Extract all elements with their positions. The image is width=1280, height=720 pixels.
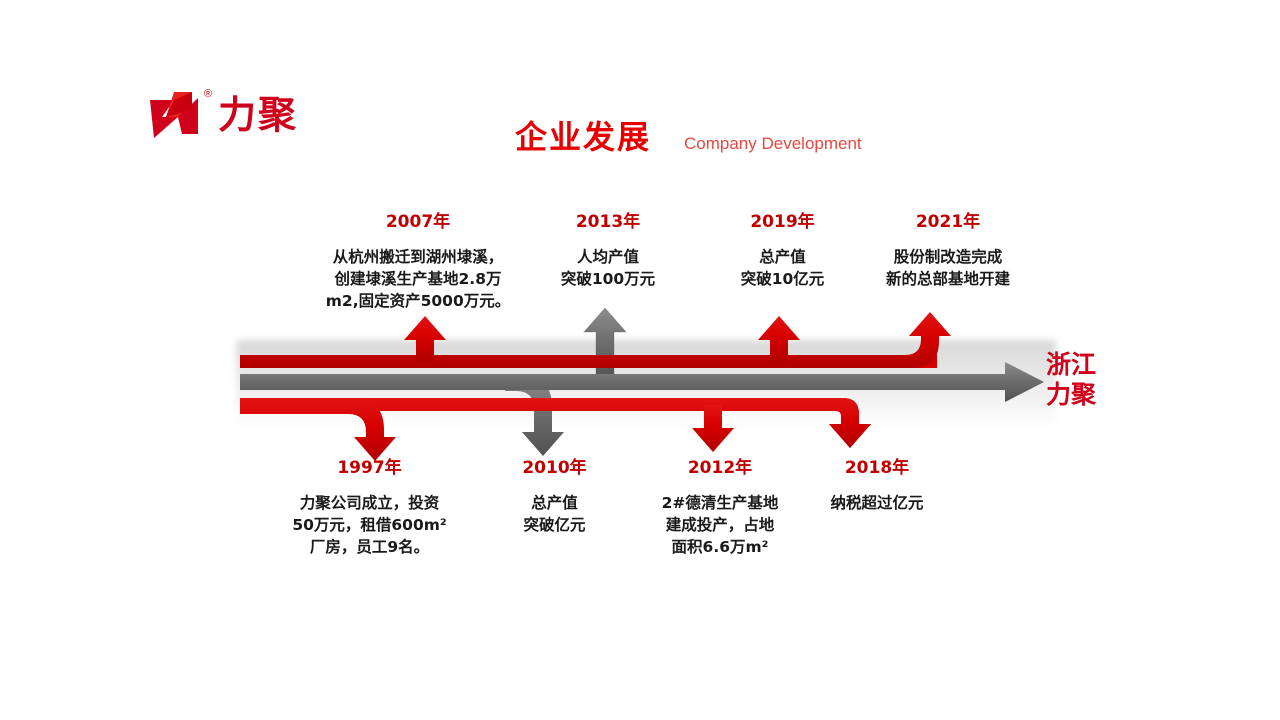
event-desc-line: 2#德清生产基地: [640, 492, 800, 514]
timeline-event-2013: 2013年 人均产值 突破100万元: [533, 207, 683, 290]
end-label-line1: 浙江: [1046, 350, 1096, 380]
event-description: 总产值 突破亿元: [487, 492, 622, 536]
event-year-label: 2007年: [298, 207, 538, 232]
timeline-event-2007: 2007年 从杭州搬迁到湖州埭溪， 创建埭溪生产基地2.8万 m2,固定资产50…: [298, 207, 538, 312]
event-desc-line: 面积6.6万m²: [640, 536, 800, 558]
event-year-label: 2013年: [533, 207, 683, 232]
event-year-label: 2021年: [858, 207, 1038, 232]
event-desc-line: 股份制改造完成: [858, 246, 1038, 268]
timeline-event-2021: 2021年 股份制改造完成 新的总部基地开建: [858, 207, 1038, 290]
event-year-label: 2012年: [640, 453, 800, 478]
event-desc-line: 突破100万元: [533, 268, 683, 290]
event-desc-line: 突破10亿元: [710, 268, 855, 290]
event-desc-line: 从杭州搬迁到湖州埭溪，: [298, 246, 538, 268]
event-desc-line: 总产值: [487, 492, 622, 514]
event-year-label: 2018年: [797, 453, 957, 478]
event-description: 总产值 突破10亿元: [710, 246, 855, 290]
event-year-label: 2019年: [710, 207, 855, 232]
event-desc-line: 厂房，员工9名。: [262, 536, 477, 558]
timeline-event-1997: 1997年 力聚公司成立，投资 50万元，租借600m² 厂房，员工9名。: [262, 453, 477, 558]
event-desc-line: m2,固定资产5000万元。: [298, 290, 538, 312]
timeline-event-2018: 2018年 纳税超过亿元: [797, 453, 957, 514]
event-description: 人均产值 突破100万元: [533, 246, 683, 290]
event-desc-line: 创建埭溪生产基地2.8万: [298, 268, 538, 290]
event-desc-line: 人均产值: [533, 246, 683, 268]
event-description: 纳税超过亿元: [797, 492, 957, 514]
timeline-event-2010: 2010年 总产值 突破亿元: [487, 453, 622, 536]
timeline-end-label: 浙江 力聚: [1046, 350, 1096, 410]
event-description: 2#德清生产基地 建成投产，占地 面积6.6万m²: [640, 492, 800, 558]
event-description: 从杭州搬迁到湖州埭溪， 创建埭溪生产基地2.8万 m2,固定资产5000万元。: [298, 246, 538, 312]
event-desc-line: 50万元，租借600m²: [262, 514, 477, 536]
end-label-line2: 力聚: [1046, 380, 1096, 410]
branch-arrow-1997: [240, 398, 396, 461]
event-desc-line: 突破亿元: [487, 514, 622, 536]
timeline-event-2012: 2012年 2#德清生产基地 建成投产，占地 面积6.6万m²: [640, 453, 800, 558]
event-desc-line: 纳税超过亿元: [797, 492, 957, 514]
event-desc-line: 力聚公司成立，投资: [262, 492, 477, 514]
event-description: 股份制改造完成 新的总部基地开建: [858, 246, 1038, 290]
event-year-label: 1997年: [262, 453, 477, 478]
event-desc-line: 总产值: [710, 246, 855, 268]
timeline-event-2019: 2019年 总产值 突破10亿元: [710, 207, 855, 290]
event-year-label: 2010年: [487, 453, 622, 478]
slide-canvas: ® 力聚 企业发展 Company Development: [0, 0, 1280, 720]
event-desc-line: 建成投产，占地: [640, 514, 800, 536]
event-desc-line: 新的总部基地开建: [858, 268, 1038, 290]
event-description: 力聚公司成立，投资 50万元，租借600m² 厂房，员工9名。: [262, 492, 477, 558]
